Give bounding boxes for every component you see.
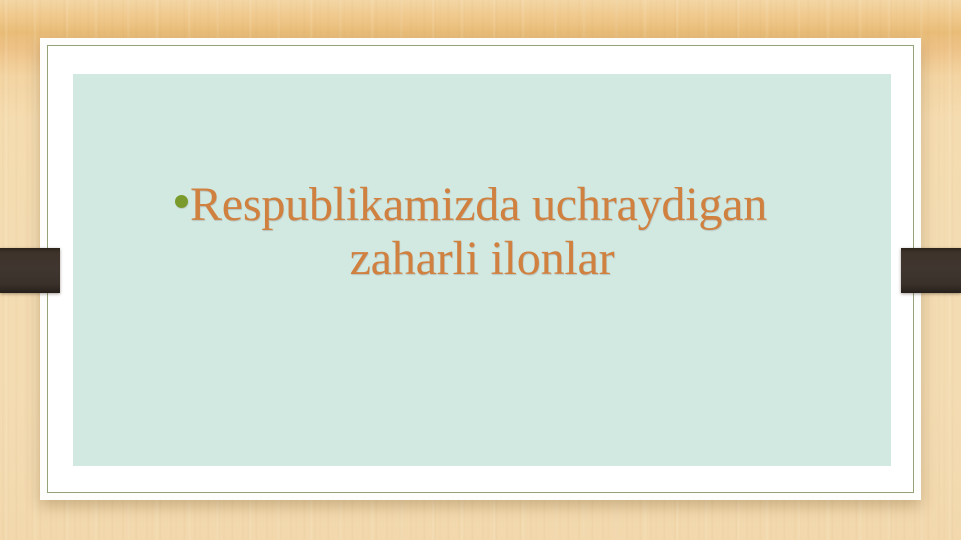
right-accent-bar <box>901 248 961 293</box>
left-accent-bar <box>0 248 60 293</box>
content-panel: Respublikamizda uchraydigan zaharli ilon… <box>73 74 891 466</box>
slide-root: Respublikamizda uchraydigan zaharli ilon… <box>0 0 961 540</box>
title-line-2: zaharli ilonlar <box>92 232 872 286</box>
bullet-dot-icon <box>175 195 188 208</box>
title-line-1: Respublikamizda uchraydigan <box>92 178 872 232</box>
slide-title: Respublikamizda uchraydigan zaharli ilon… <box>92 178 872 286</box>
title-line-1-text: Respublikamizda uchraydigan <box>190 178 767 231</box>
